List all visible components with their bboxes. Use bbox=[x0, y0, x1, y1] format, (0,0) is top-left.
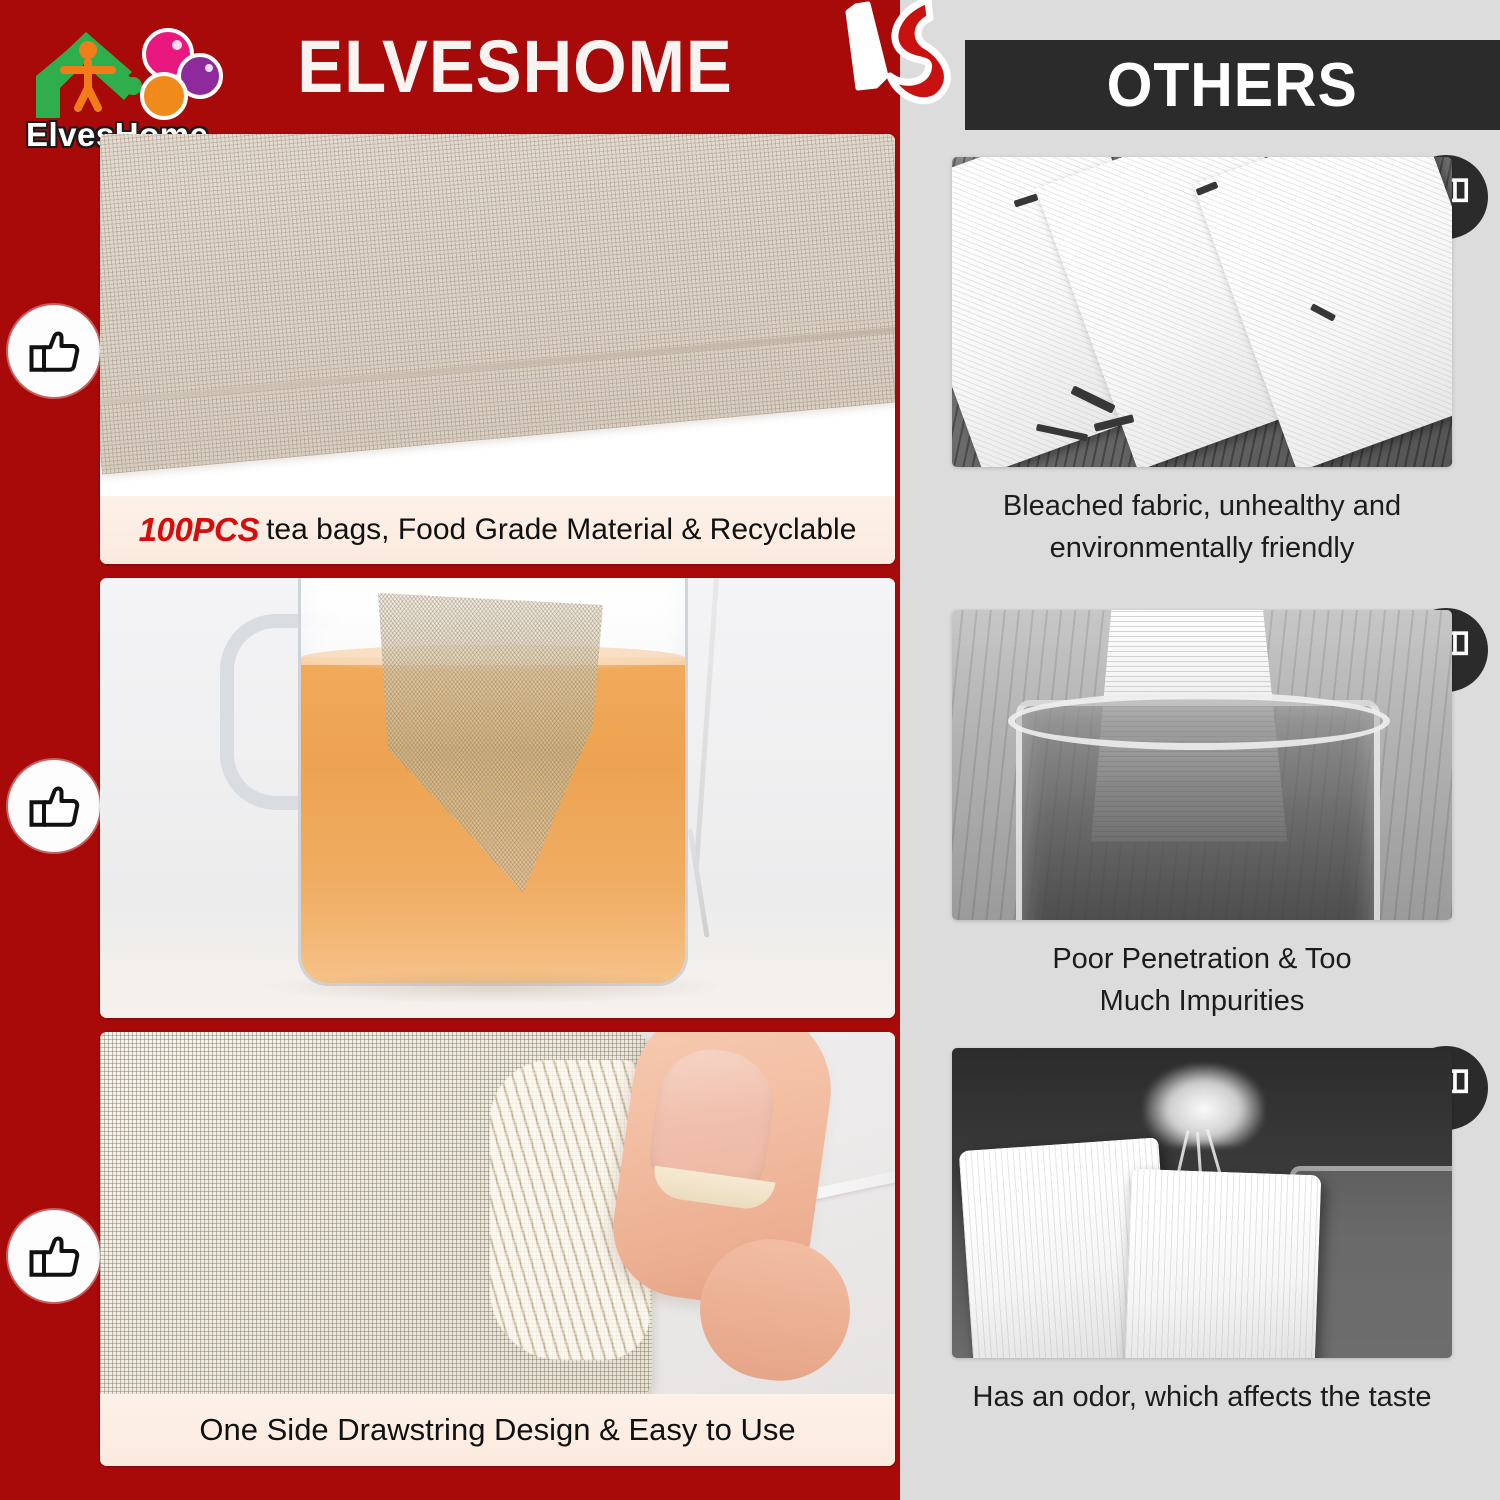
good-card-brewing bbox=[100, 578, 895, 1018]
bad-caption-3-line1: Has an odor, which affects the taste bbox=[952, 1376, 1452, 1418]
bad-caption-2-line1: Poor Penetration & Too bbox=[952, 938, 1452, 980]
bad-caption-1: Bleached fabric, unhealthy and environme… bbox=[952, 485, 1452, 569]
bad-caption-3: Has an odor, which affects the taste bbox=[952, 1376, 1452, 1418]
thumbs-up-icon bbox=[8, 305, 100, 397]
others-title: OTHERS bbox=[1107, 50, 1358, 121]
tea-mug-photo bbox=[100, 578, 895, 1018]
good-caption-3: One Side Drawstring Design & Easy to Use bbox=[100, 1394, 895, 1466]
pieces-count: 100PCS bbox=[139, 511, 260, 549]
thumbs-up-icon bbox=[8, 1210, 100, 1302]
thumbs-up-icon bbox=[8, 760, 100, 852]
bleached-bags-photo bbox=[952, 157, 1452, 467]
comparison-infographic: ElvesHome ELVESHOME bbox=[0, 0, 1500, 1500]
bad-caption-2: Poor Penetration & Too Much Impurities bbox=[952, 938, 1452, 1022]
bad-caption-2-line2: Much Impurities bbox=[952, 980, 1452, 1022]
bad-card-penetration: Poor Penetration & Too Much Impurities bbox=[952, 610, 1452, 1022]
bad-card-odor: Has an odor, which affects the taste bbox=[952, 1048, 1452, 1418]
elveshome-panel: ElvesHome ELVESHOME bbox=[0, 0, 900, 1500]
good-caption-1-text: tea bags, Food Grade Material & Recyclab… bbox=[266, 513, 856, 547]
bad-caption-1-line1: Bleached fabric, unhealthy and bbox=[952, 485, 1452, 527]
bad-caption-1-line2: environmentally friendly bbox=[952, 527, 1452, 569]
drawstring-photo bbox=[100, 1032, 895, 1394]
good-card-drawstring: One Side Drawstring Design & Easy to Use bbox=[100, 1032, 895, 1466]
bag-in-glass-photo bbox=[952, 610, 1452, 920]
brand-title: ELVESHOME bbox=[273, 22, 757, 110]
bad-card-bleached: Bleached fabric, unhealthy and environme… bbox=[952, 157, 1452, 569]
good-caption-1: 100PCS tea bags, Food Grade Material & R… bbox=[100, 496, 895, 564]
fabric-photo bbox=[100, 134, 895, 496]
vs-brush-badge bbox=[828, 0, 968, 136]
others-title-bar: OTHERS bbox=[965, 40, 1500, 130]
house-with-person-and-bubbles-logo bbox=[28, 14, 228, 126]
lint-fibers-photo bbox=[952, 1048, 1452, 1358]
good-card-fabric: 100PCS tea bags, Food Grade Material & R… bbox=[100, 134, 895, 564]
